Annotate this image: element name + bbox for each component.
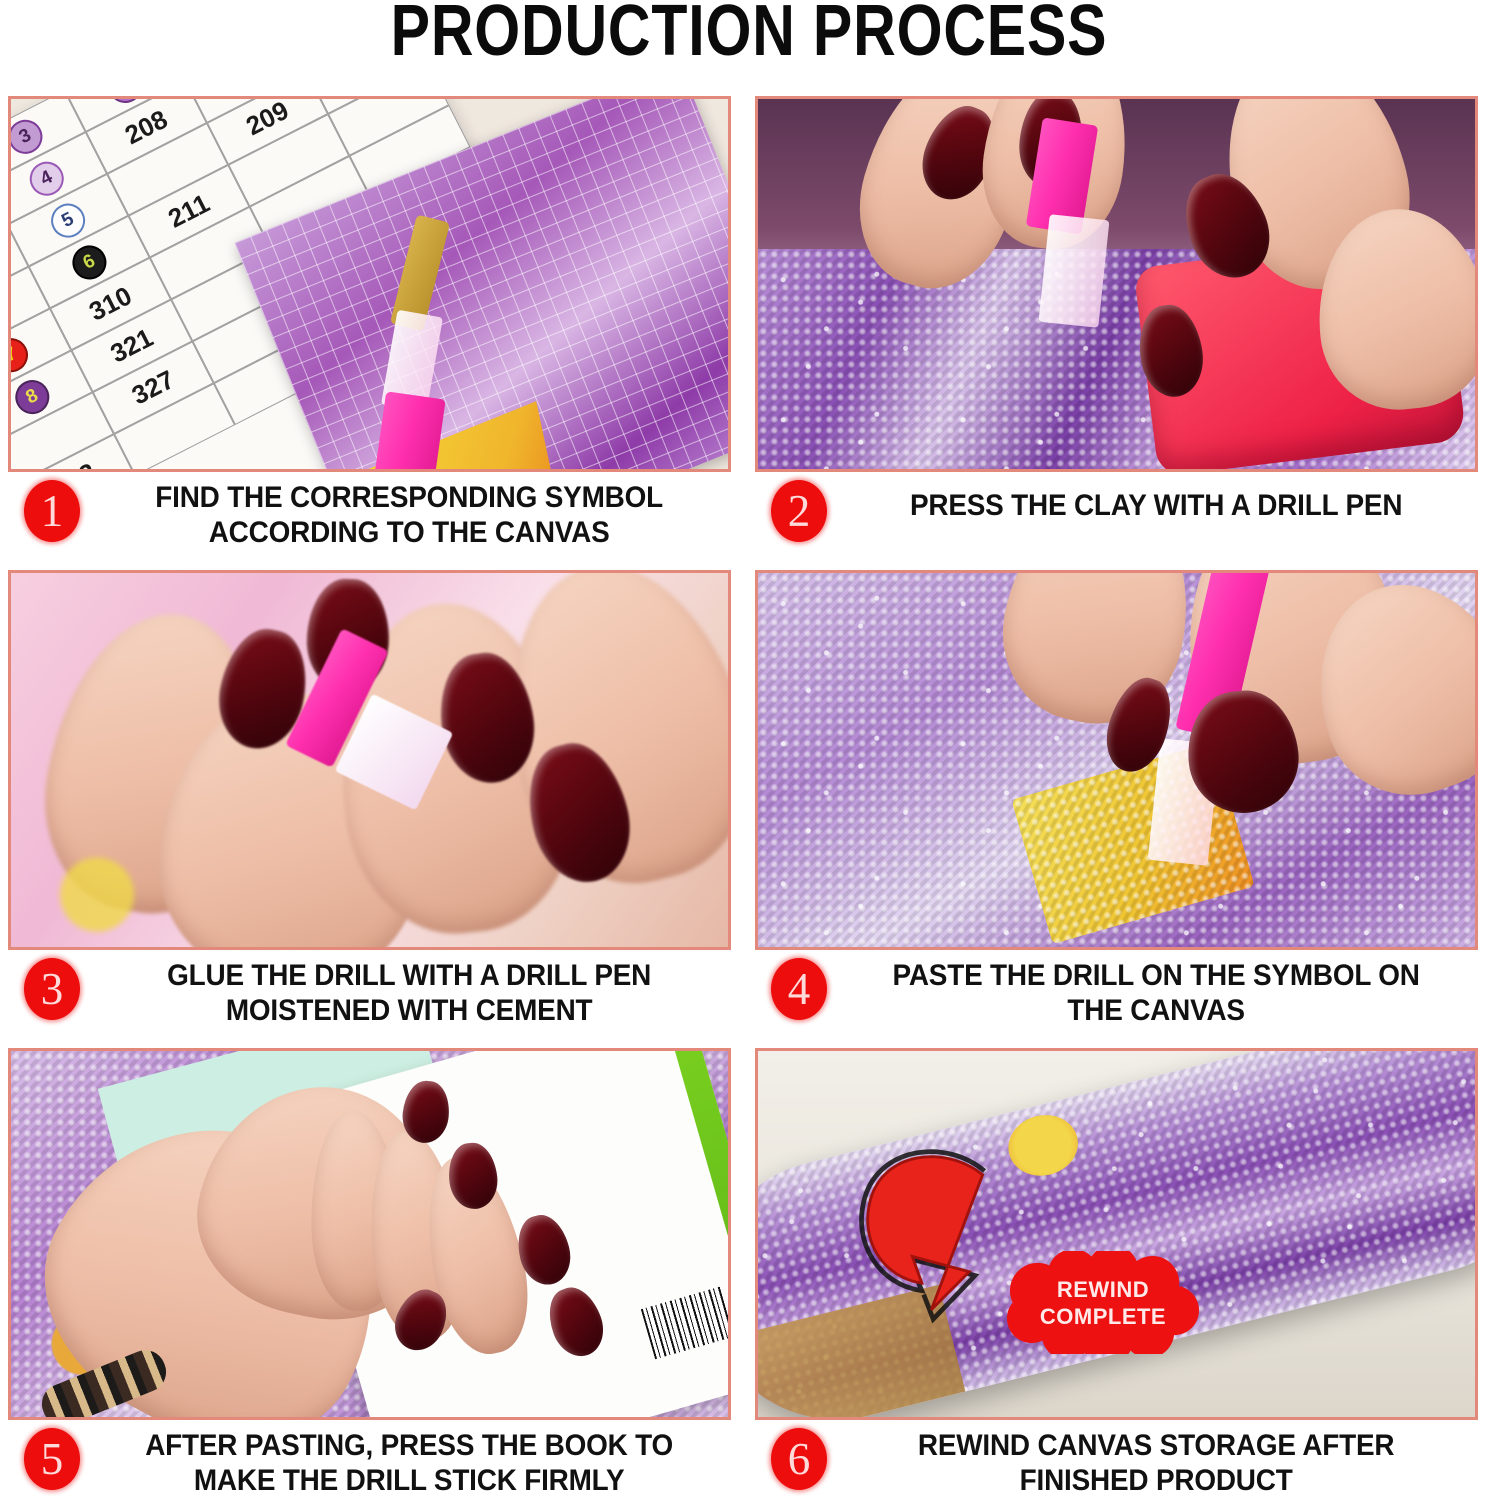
caption-line: REWIND CANVAS STORAGE AFTER <box>862 1428 1451 1463</box>
caption-line: ACCORDING TO THE CANVAS <box>115 515 704 550</box>
step-card-1: 04 3 2 154 颜色 05 <box>8 96 743 550</box>
steps-row-3: 5 AFTER PASTING, PRESS THE BOOK TO MAKE … <box>0 1048 1498 1500</box>
caption-line: MAKE THE DRILL STICK FIRMLY <box>115 1463 704 1498</box>
step-card-6: REWIND COMPLETE 6 REWIND CANVAS STORAGE … <box>755 1048 1490 1498</box>
step-text-1: FIND THE CORRESPONDING SYMBOL ACCORDING … <box>115 480 720 550</box>
badge-line-2: COMPLETE <box>1040 1303 1166 1331</box>
production-process-infographic: PRODUCTION PROCESS 04 3 2 <box>0 0 1498 1500</box>
caption-line: AFTER PASTING, PRESS THE BOOK TO <box>115 1428 704 1463</box>
step-badge-5: 5 <box>24 1428 80 1490</box>
step-card-3: 3 GLUE THE DRILL WITH A DRILL PEN MOISTE… <box>8 570 743 1028</box>
step-image-2 <box>755 96 1478 472</box>
symbol-8: 8 <box>9 374 55 420</box>
barcode <box>641 1286 731 1359</box>
step-image-5 <box>8 1048 731 1420</box>
step-card-4: 4 PASTE THE DRILL ON THE SYMBOL ON THE C… <box>755 570 1490 1028</box>
step-caption-5: 5 AFTER PASTING, PRESS THE BOOK TO MAKE … <box>8 1420 743 1498</box>
step-badge-6: 6 <box>771 1428 827 1490</box>
step-caption-3: 3 GLUE THE DRILL WITH A DRILL PEN MOISTE… <box>8 950 743 1028</box>
badge-line-1: REWIND <box>1057 1276 1149 1304</box>
step-card-5: 5 AFTER PASTING, PRESS THE BOOK TO MAKE … <box>8 1048 743 1498</box>
page-title: PRODUCTION PROCESS <box>135 0 1363 70</box>
step-image-3 <box>8 570 731 950</box>
step-image-4 <box>755 570 1478 950</box>
caption-line: MOISTENED WITH CEMENT <box>115 993 704 1028</box>
step-text-5: AFTER PASTING, PRESS THE BOOK TO MAKE TH… <box>115 1428 720 1498</box>
caption-line: FINISHED PRODUCT <box>862 1463 1451 1498</box>
symbol-3: 3 <box>8 114 48 160</box>
caption-line: PRESS THE CLAY WITH A DRILL PEN <box>862 488 1451 523</box>
symbol-4: 4 <box>24 155 70 201</box>
step-badge-2: 2 <box>771 480 827 542</box>
background-bokeh <box>11 573 728 947</box>
caption-line: PASTE THE DRILL ON THE SYMBOL ON <box>862 958 1451 993</box>
step-badge-1: 1 <box>24 480 80 542</box>
step-text-6: REWIND CANVAS STORAGE AFTER FINISHED PRO… <box>862 1428 1467 1498</box>
steps-row-2: 3 GLUE THE DRILL WITH A DRILL PEN MOISTE… <box>0 570 1498 1048</box>
steps-row-1: 04 3 2 154 颜色 05 <box>0 96 1498 570</box>
drill-pen-clear-tip <box>1039 214 1110 328</box>
step-image-6: REWIND COMPLETE <box>755 1048 1478 1420</box>
rewind-complete-badge: REWIND COMPLETE <box>1004 1251 1202 1355</box>
step-text-3: GLUE THE DRILL WITH A DRILL PEN MOISTENE… <box>115 958 720 1028</box>
step-card-2: 2 PRESS THE CLAY WITH A DRILL PEN <box>755 96 1490 542</box>
symbol-6: 6 <box>66 239 112 285</box>
step-badge-3: 3 <box>24 958 80 1020</box>
step-text-4: PASTE THE DRILL ON THE SYMBOL ON THE CAN… <box>862 958 1467 1028</box>
caption-line: THE CANVAS <box>862 993 1451 1028</box>
steps-grid: 04 3 2 154 颜色 05 <box>0 96 1498 1500</box>
step-caption-2: 2 PRESS THE CLAY WITH A DRILL PEN <box>755 472 1490 542</box>
step-badge-4: 4 <box>771 958 827 1020</box>
caption-line: FIND THE CORRESPONDING SYMBOL <box>115 480 704 515</box>
step-caption-1: 1 FIND THE CORRESPONDING SYMBOL ACCORDIN… <box>8 472 743 550</box>
step-image-1: 04 3 2 154 颜色 05 <box>8 96 731 472</box>
step-caption-6: 6 REWIND CANVAS STORAGE AFTER FINISHED P… <box>755 1420 1490 1498</box>
step-text-2: PRESS THE CLAY WITH A DRILL PEN <box>862 480 1467 523</box>
step-caption-4: 4 PASTE THE DRILL ON THE SYMBOL ON THE C… <box>755 950 1490 1028</box>
symbol-5: 5 <box>45 197 91 243</box>
caption-line: GLUE THE DRILL WITH A DRILL PEN <box>115 958 704 993</box>
